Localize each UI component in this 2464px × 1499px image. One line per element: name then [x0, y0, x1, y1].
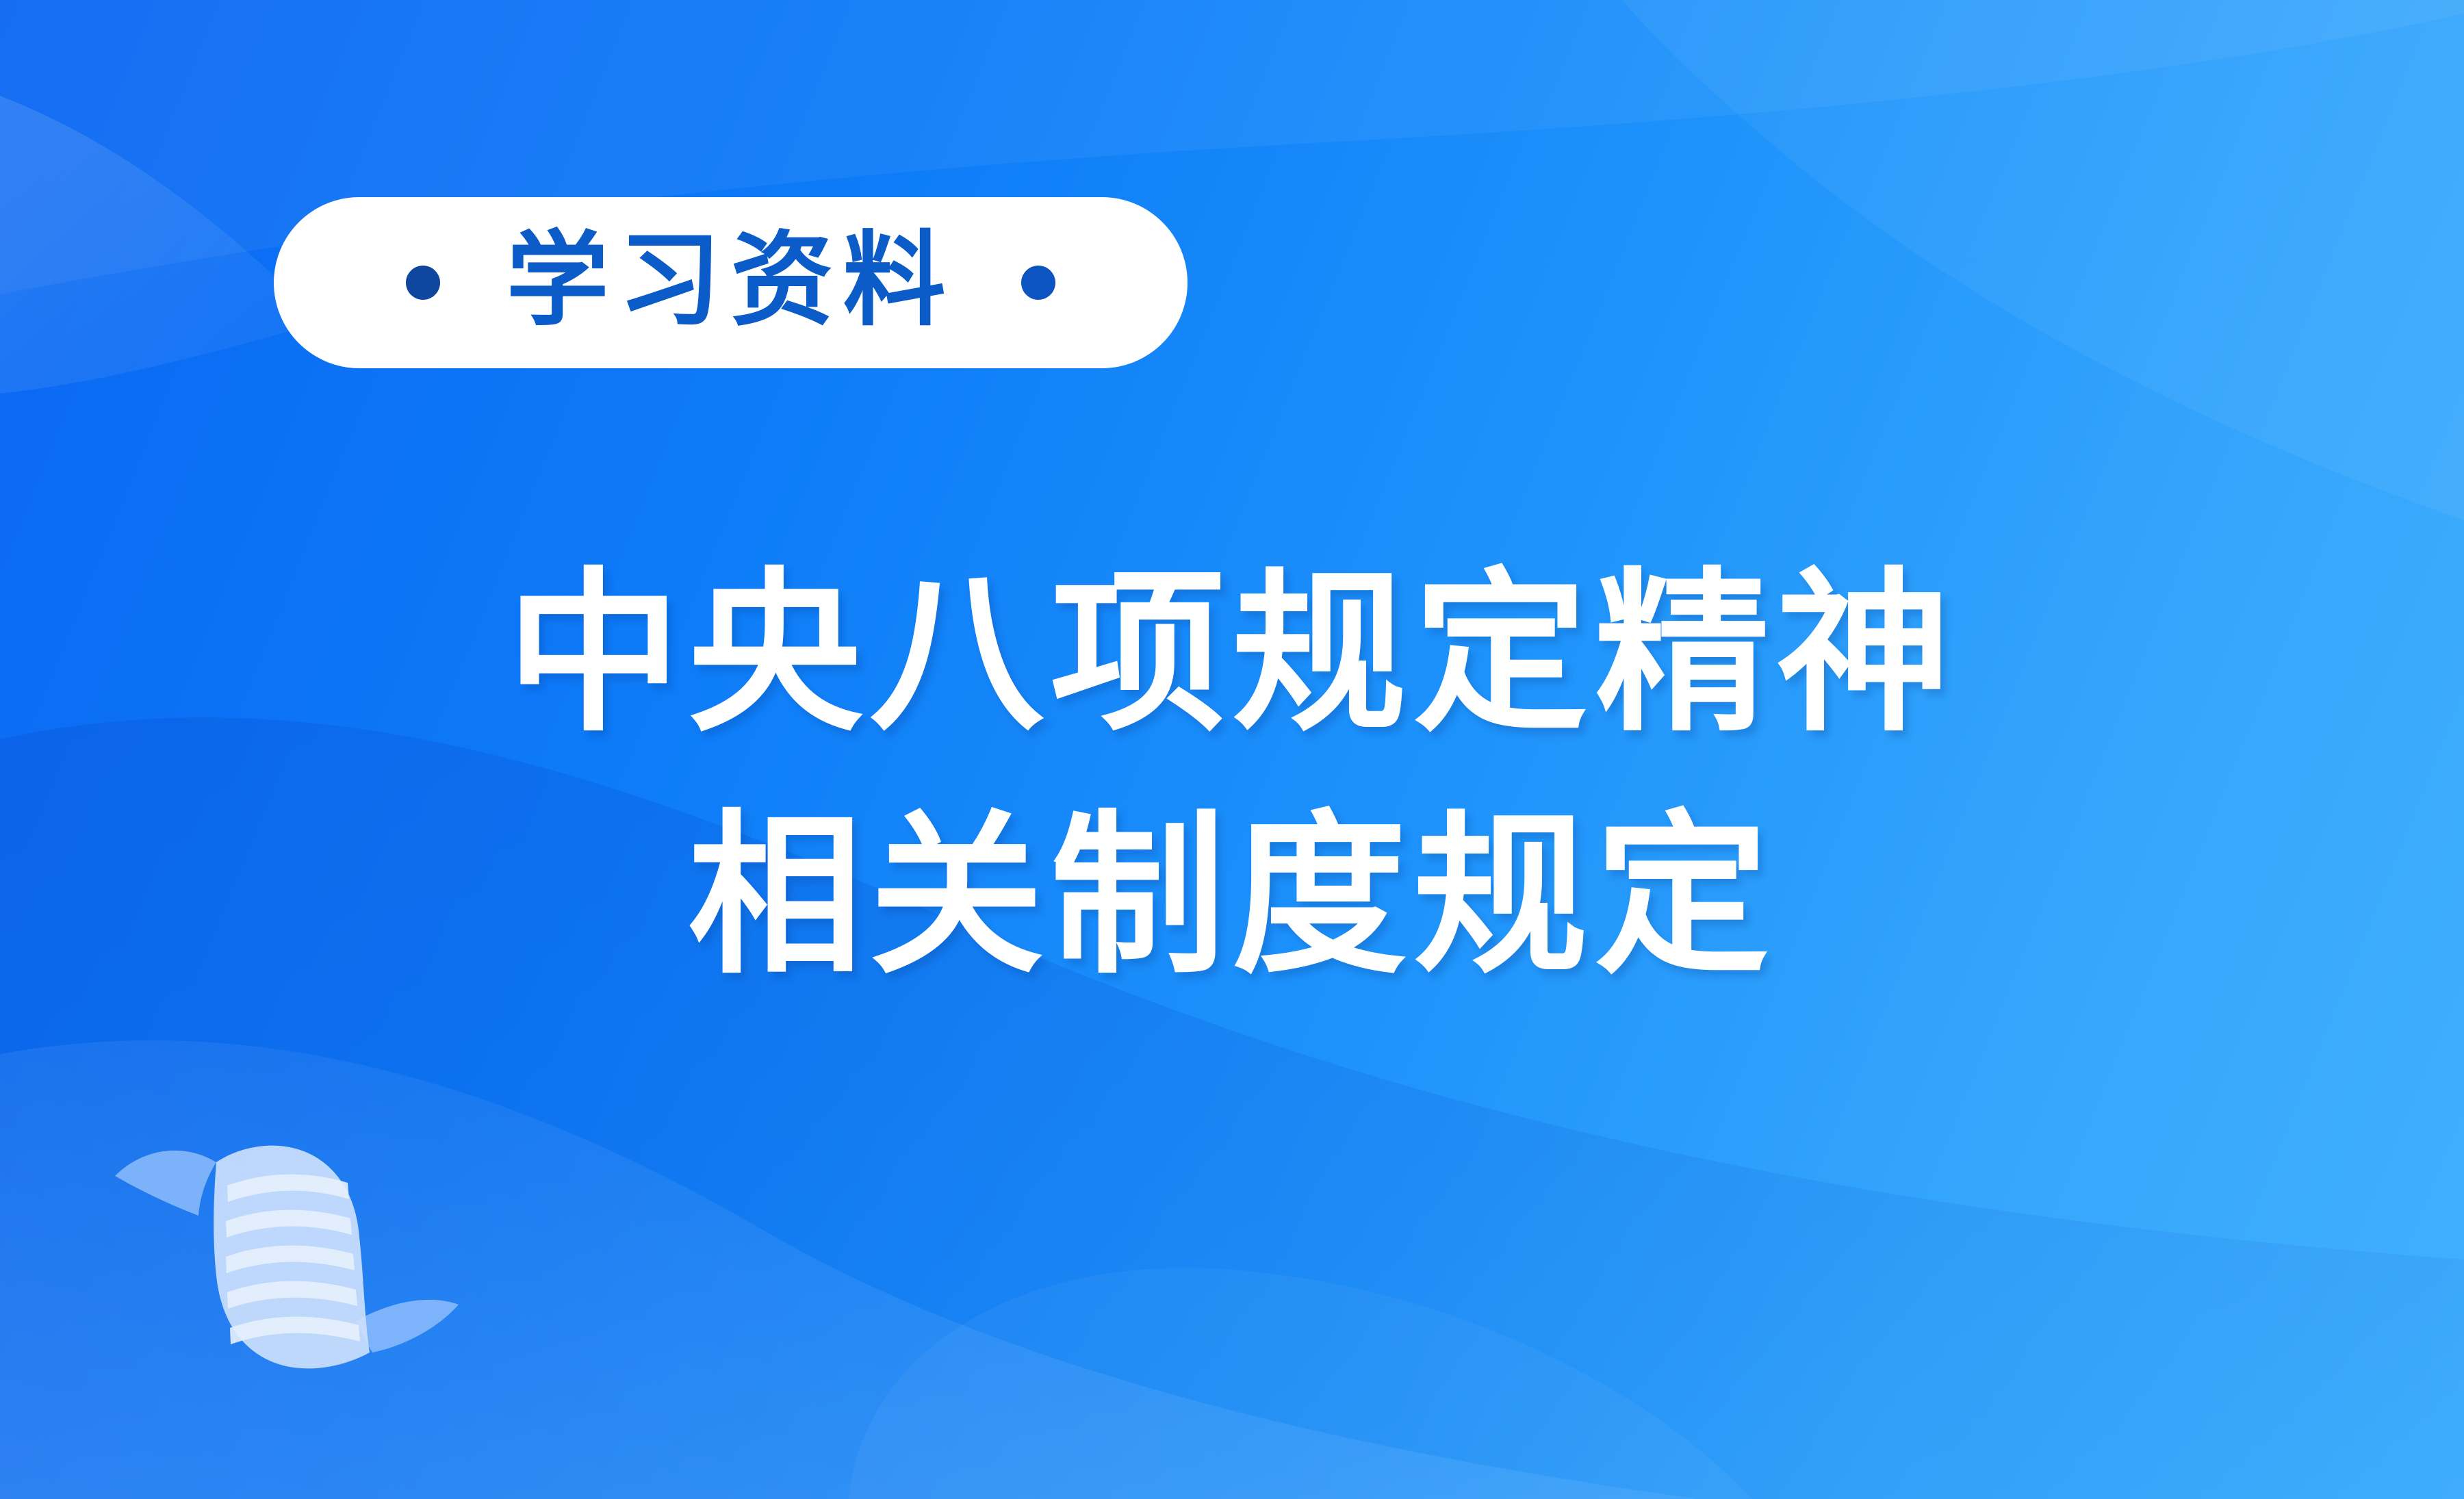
dot-icon-right [1021, 266, 1055, 300]
badge-label: 学习资料 [506, 229, 955, 331]
study-material-badge: 学习资料 [274, 197, 1188, 368]
scroll-document-icon [96, 1123, 479, 1396]
scroll-ruled-lines [226, 1175, 360, 1344]
wave-shape-top-left [0, 96, 322, 394]
scroll-back-curl-left [115, 1151, 216, 1216]
wave-shape-bottom-arc [849, 1268, 1752, 1499]
title-line-2: 相关制度规定 [0, 783, 2464, 1010]
study-material-banner: 学习资料 中央八项规定精神 相关制度规定 [0, 0, 2464, 1499]
wave-shape-lower-light [0, 1040, 1697, 1499]
dot-icon-left [406, 266, 440, 300]
page-title: 中央八项规定精神 相关制度规定 [0, 541, 2464, 1010]
scroll-sheet [214, 1146, 370, 1369]
title-line-1: 中央八项规定精神 [0, 541, 2464, 768]
wave-shape-top-right [1622, 0, 2464, 520]
scroll-back-curl-right [356, 1300, 459, 1353]
